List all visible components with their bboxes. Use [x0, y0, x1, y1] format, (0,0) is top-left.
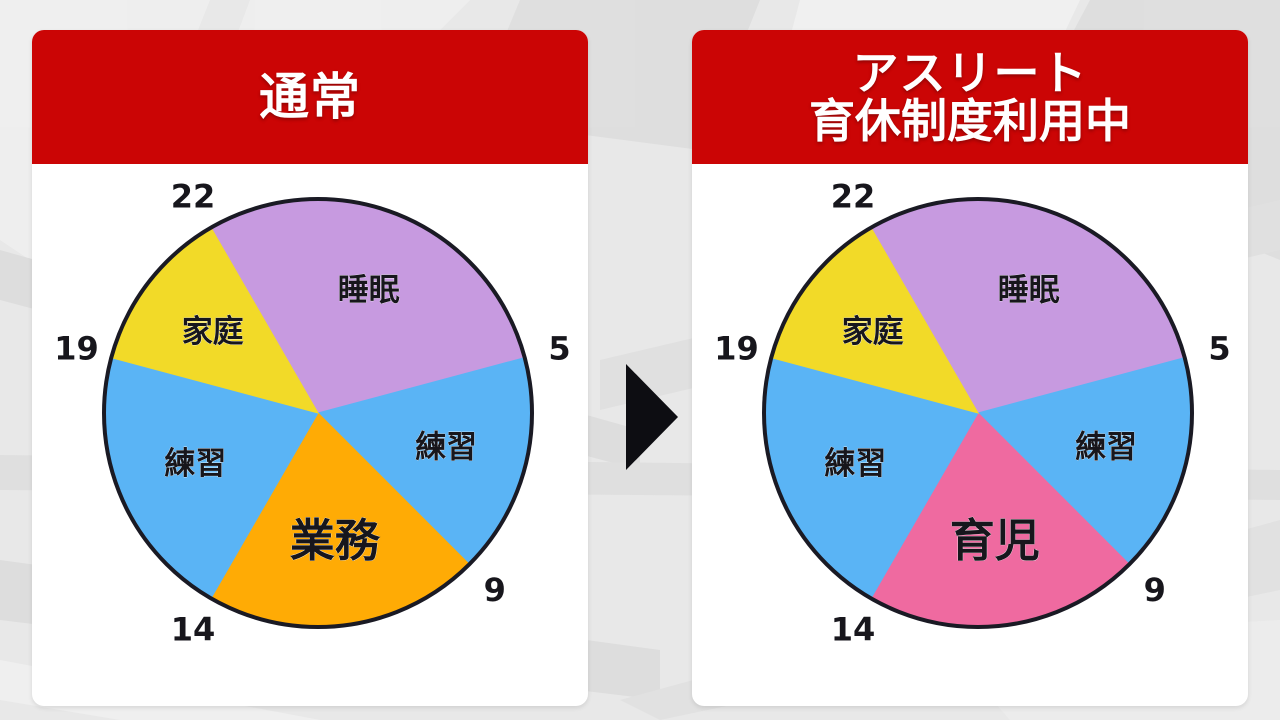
slice-label: 練習	[824, 446, 886, 482]
panel-header-title-line2: 育休制度利用中	[809, 97, 1131, 145]
hour-tick-label: 19	[54, 329, 99, 367]
hour-tick-label: 14	[831, 611, 876, 649]
panel-athlete: アスリート 育休制度利用中 睡眠練習育児練習家庭22591419	[692, 30, 1248, 706]
panel-header-athlete: アスリート 育休制度利用中	[692, 30, 1248, 164]
pie-chart-athlete: 睡眠練習育児練習家庭22591419	[692, 164, 1248, 706]
transition-arrow-icon	[622, 362, 680, 472]
slice-label: 育児	[950, 514, 1040, 567]
pie-chart-normal: 睡眠練習業務練習家庭22591419	[32, 164, 588, 706]
hour-tick-label: 5	[548, 329, 570, 367]
panel-header-normal: 通常	[32, 30, 588, 164]
panel-header-title: 通常	[259, 71, 361, 124]
slice-label: 業務	[290, 514, 381, 567]
hour-tick-label: 9	[1144, 571, 1166, 609]
panel-header-title: アスリート 育休制度利用中	[809, 49, 1131, 146]
slice-label: 睡眠	[338, 272, 400, 308]
slice-label: 練習	[164, 446, 226, 482]
hour-tick-label: 22	[171, 178, 216, 216]
slice-label: 練習	[1075, 429, 1137, 465]
slice-label: 家庭	[842, 314, 904, 350]
slice-label: 練習	[415, 429, 477, 465]
hour-tick-label: 5	[1208, 329, 1230, 367]
slice-label: 睡眠	[998, 272, 1060, 308]
panel-header-title-line1: アスリート	[809, 49, 1131, 97]
panel-normal: 通常 睡眠練習業務練習家庭22591419	[32, 30, 588, 706]
hour-tick-label: 19	[714, 329, 759, 367]
hour-tick-label: 9	[484, 571, 506, 609]
slice-label: 家庭	[182, 314, 244, 350]
hour-tick-label: 14	[171, 611, 216, 649]
hour-tick-label: 22	[831, 178, 876, 216]
